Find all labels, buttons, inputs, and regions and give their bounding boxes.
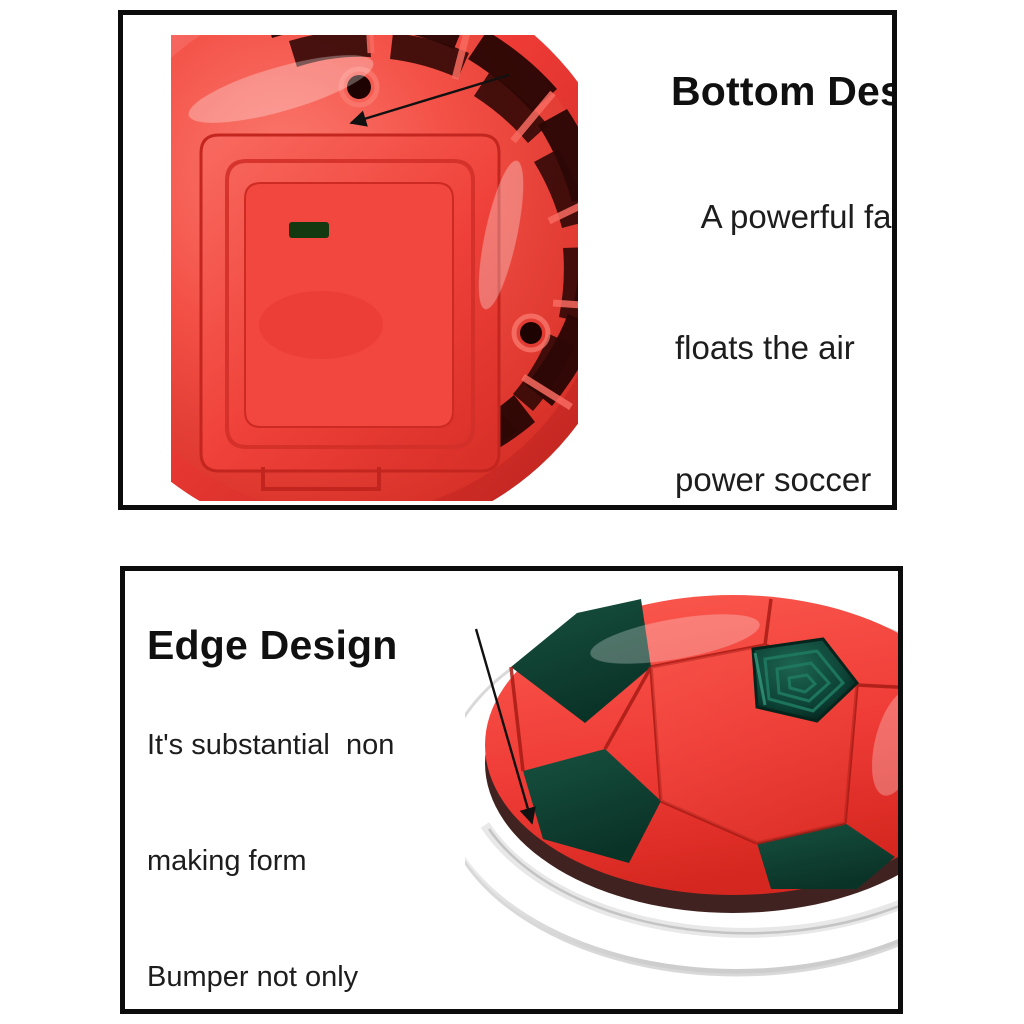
body-line: floats the air: [675, 326, 892, 370]
hover-disc-underside-illustration: [171, 35, 578, 501]
panel-bottom-design: Bottom Design A powerful fan floats the …: [118, 10, 897, 510]
panel-edge-design: Edge Design It's substantial non making …: [120, 566, 903, 1014]
bottom-design-photo: [171, 35, 578, 501]
panel-edge-design-inner: Edge Design It's substantial non making …: [125, 571, 898, 1009]
body-line: power soccer: [675, 458, 892, 502]
panel-bottom-design-inner: Bottom Design A powerful fan floats the …: [123, 15, 892, 505]
edge-design-photo: [465, 593, 898, 1009]
body-line: A powerful fan: [675, 195, 892, 239]
bottom-design-heading: Bottom Design: [671, 71, 892, 112]
bottom-design-body: A powerful fan floats the air power socc…: [675, 107, 892, 505]
edge-design-body: It's substantial non making form Bumper …: [147, 649, 468, 1009]
hover-disc-top-illustration: [465, 593, 898, 1009]
body-line: It's substantial non: [147, 726, 468, 765]
body-line: making form: [147, 842, 468, 881]
body-line: Bumper not only: [147, 958, 468, 997]
